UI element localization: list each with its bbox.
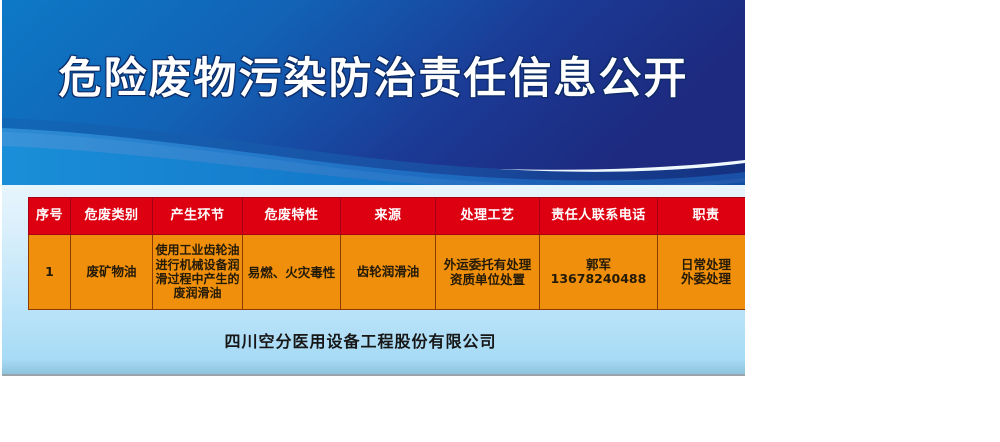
column-header-category: 危废类别 [71, 198, 153, 235]
column-header-generation-stage: 产生环节 [153, 198, 243, 235]
column-header-treatment-process: 处理工艺 [436, 198, 540, 235]
cell-source: 齿轮润滑油 [341, 235, 436, 310]
column-header-duty: 职责 [658, 198, 746, 235]
column-header-responsible-phone: 责任人联系电话 [540, 198, 658, 235]
duty-line-1: 日常处理 [660, 258, 745, 272]
cell-responsible-contact: 郭军 13678240488 [540, 235, 658, 310]
cell-duty: 日常处理 外委处理 [658, 235, 746, 310]
cell-hazard-property: 易燃、火灾毒性 [243, 235, 341, 310]
column-header-index: 序号 [29, 198, 71, 235]
responsible-person-phone: 13678240488 [542, 272, 655, 286]
column-header-hazard-property: 危废特性 [243, 198, 341, 235]
cell-index: 1 [29, 235, 71, 310]
table-row: 1 废矿物油 使用工业齿轮油进行机械设备润滑过程中产生的废润滑油 易燃、火灾毒性… [29, 235, 746, 310]
cell-category: 废矿物油 [71, 235, 153, 310]
cell-treatment-process: 外运委托有处理资质单位处置 [436, 235, 540, 310]
page-title: 危险废物污染防治责任信息公开 [2, 44, 745, 106]
hazardous-waste-table: 序号 危废类别 产生环节 危废特性 来源 处理工艺 责任人联系电话 职责 1 废… [28, 197, 745, 310]
responsible-person-name: 郭军 [542, 258, 655, 272]
company-name: 四川空分医用设备工程股份有限公司 [2, 328, 745, 352]
duty-line-2: 外委处理 [660, 272, 745, 286]
information-disclosure-poster: 危险废物污染防治责任信息公开 序号 危废类别 产生环节 危废特性 来源 处理工艺… [2, 0, 745, 376]
cell-generation-stage: 使用工业齿轮油进行机械设备润滑过程中产生的废润滑油 [153, 235, 243, 310]
table-header-row: 序号 危废类别 产生环节 危废特性 来源 处理工艺 责任人联系电话 职责 [29, 198, 746, 235]
column-header-source: 来源 [341, 198, 436, 235]
